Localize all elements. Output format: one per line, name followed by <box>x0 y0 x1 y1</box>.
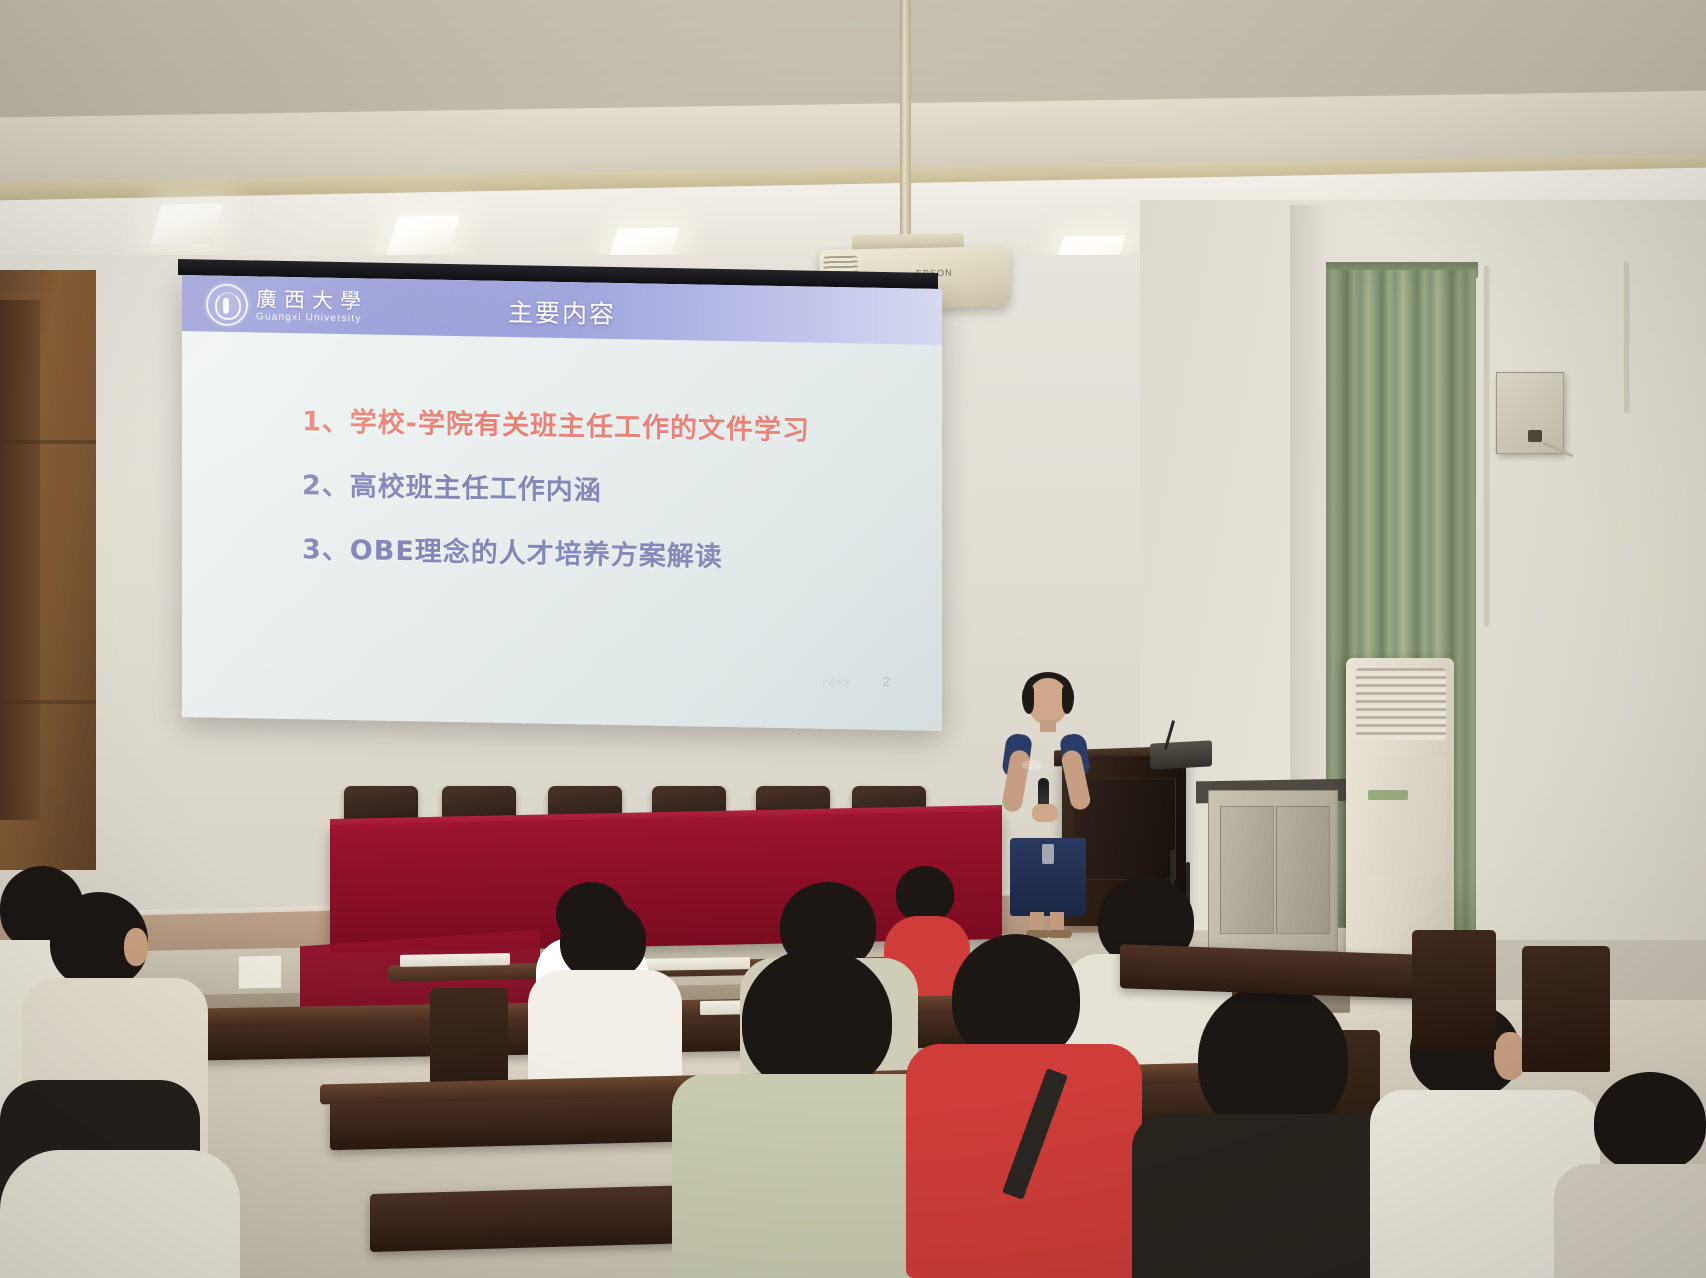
left-wood-panel-dark <box>0 300 40 820</box>
bullet-2-number: 2、 <box>302 470 350 502</box>
desk-pad <box>400 953 510 967</box>
slide-bullet-2: 2、高校班主任工作内涵 <box>302 463 902 513</box>
audience-head <box>1198 984 1348 1134</box>
audience-head <box>560 900 646 980</box>
slide-page-number: 2 <box>883 674 890 689</box>
audience-head <box>742 948 892 1092</box>
av-cabinet-door-right[interactable] <box>1276 806 1330 934</box>
bullet-2-text: 高校班主任工作内涵 <box>350 471 602 507</box>
desk-pad <box>640 957 750 971</box>
audience-head <box>952 934 1080 1062</box>
wall-outlet-plate <box>238 955 282 990</box>
lecture-hall-photo: EPSON 廣西大學 Guangxi University 主要内容 1、学校-… <box>0 0 1706 1278</box>
air-conditioner-grille <box>1356 668 1446 740</box>
projector-pole <box>900 0 911 238</box>
audience-face <box>124 928 148 966</box>
audience-torso <box>0 1150 240 1278</box>
presenter-hands <box>1032 804 1058 822</box>
audience-head <box>896 866 954 922</box>
presenter-shoe-right <box>1048 930 1072 938</box>
ceiling-light-2 <box>386 215 459 256</box>
projection-screen: 廣西大學 Guangxi University 主要内容 1、学校-学院有关班主… <box>182 275 942 731</box>
speaker-port <box>1528 430 1542 442</box>
presenter-badge <box>1042 844 1054 864</box>
av-cabinet-door-left[interactable] <box>1220 806 1274 934</box>
bullet-1-number: 1、 <box>302 406 350 438</box>
wall-conduit <box>1484 266 1488 626</box>
presenter-collar-pin <box>1022 760 1042 770</box>
slide-bullet-1: 1、学校-学院有关班主任工作的文件学习 <box>302 399 902 449</box>
wall-conduit <box>1624 262 1628 412</box>
slide-bullet-3: 3、OBE理念的人才培养方案解读 <box>302 527 902 577</box>
bullet-3-number: 3、 <box>302 534 350 566</box>
air-conditioner-badge <box>1368 790 1408 800</box>
ceiling-light-1 <box>150 203 223 244</box>
slide-title: 主要内容 <box>182 287 942 337</box>
presenter <box>1000 668 1096 940</box>
air-conditioner-panel <box>1356 756 1446 876</box>
bullet-3-text: OBE理念的人才培养方案解读 <box>350 535 723 573</box>
presenter-hair-side-left <box>1022 686 1034 714</box>
seat-back <box>1412 930 1496 1050</box>
audience-torso <box>1554 1164 1706 1278</box>
wood-trim <box>0 700 96 704</box>
bullet-1-text: 学校-学院有关班主任工作的文件学习 <box>350 407 810 446</box>
slide-body: 1、学校-学院有关班主任工作的文件学习 2、高校班主任工作内涵 3、OBE理念的… <box>302 399 902 602</box>
podium-control-box[interactable] <box>1150 740 1212 769</box>
presenter-hair-side-right <box>1062 686 1074 714</box>
seat-back <box>1522 946 1610 1072</box>
wood-trim <box>0 440 96 444</box>
audience-head <box>1594 1072 1706 1172</box>
slide-footer-watermark: 广西大学 <box>822 679 856 694</box>
